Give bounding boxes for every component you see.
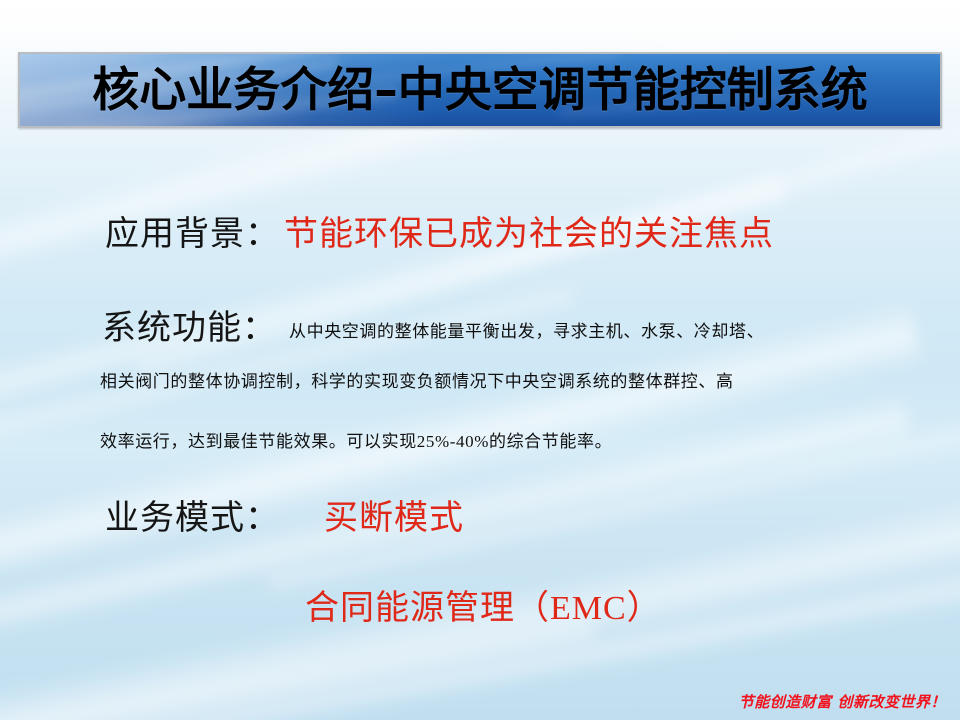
application-background-value: 节能环保已成为社会的关注焦点 <box>284 206 774 255</box>
system-function-line-1: 从中央空调的整体能量平衡出发，寻求主机、水泵、冷却塔、 <box>289 317 764 342</box>
business-model-value-secondary: 合同能源管理（EMC） <box>305 580 662 629</box>
system-function-line-3: 效率运行，达到最佳节能效果。可以实现25%-40%的综合节能率。 <box>100 427 612 452</box>
system-function-line-2: 相关阀门的整体协调控制，科学的实现变负额情况下中央空调系统的整体群控、高 <box>100 367 734 392</box>
section-application-background: 应用背景： 节能环保已成为社会的关注焦点 <box>105 206 774 255</box>
section-business-model: 业务模式： 买断模式 <box>105 490 464 539</box>
business-model-label: 业务模式： <box>105 490 280 539</box>
section-system-function: 系统功能： 从中央空调的整体能量平衡出发，寻求主机、水泵、冷却塔、 <box>102 300 764 349</box>
system-function-label: 系统功能： <box>102 300 277 349</box>
slide-body: 应用背景： 节能环保已成为社会的关注焦点 系统功能： 从中央空调的整体能量平衡出… <box>0 0 960 720</box>
footer-slogan: 节能创造财富 创新改变世界！ <box>739 691 946 712</box>
business-model-value-primary: 买断模式 <box>324 490 464 539</box>
presentation-slide: 核心业务介绍–中央空调节能控制系统 应用背景： 节能环保已成为社会的关注焦点 系… <box>0 0 960 720</box>
application-background-label: 应用背景： <box>105 206 280 255</box>
